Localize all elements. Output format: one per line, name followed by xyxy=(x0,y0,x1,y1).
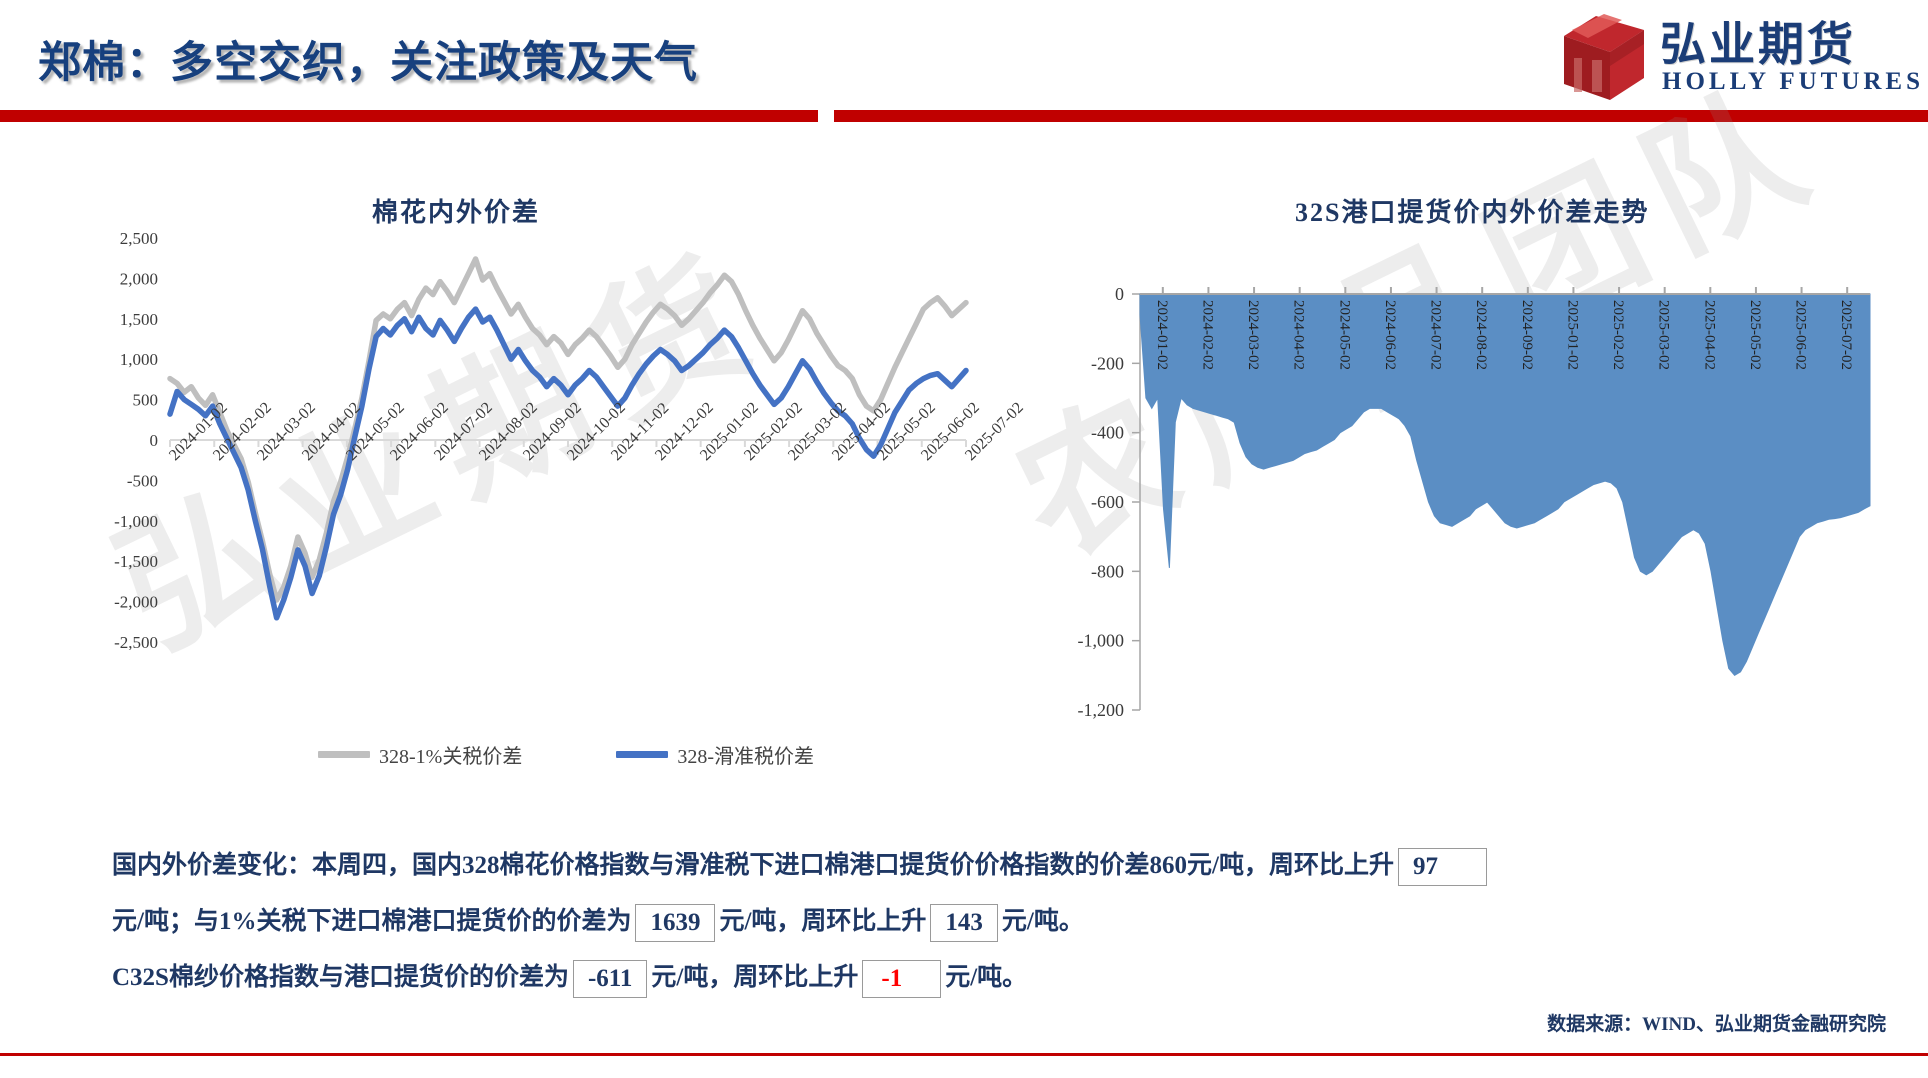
y-axis-tick-label: 0 xyxy=(150,431,159,450)
y-axis-tick-label: 1,500 xyxy=(120,310,158,329)
y-axis-tick-label: -1,000 xyxy=(114,512,158,531)
logo-chinese-name: 弘业期货 xyxy=(1660,8,1856,74)
analysis-line-2: 元/吨；与1%关税下进口棉港口提货价的价差为1639元/吨，周环比上升143元/… xyxy=(112,894,1852,950)
legend-swatch-icon xyxy=(616,751,668,758)
analysis-line-2-text-a: 元/吨；与1%关税下进口棉港口提货价的价差为 xyxy=(112,908,631,935)
y-axis-tick-label: 1,000 xyxy=(120,350,158,369)
chart-cotton-spread: 2,5002,0001,5001,0005000-500-1,000-1,500… xyxy=(80,230,980,650)
legend-item: 328-滑准税价差 xyxy=(616,740,814,769)
y-axis-tick-label: -500 xyxy=(127,471,158,490)
cube-logo-icon xyxy=(1552,8,1652,104)
y-axis-tick-label: 2,500 xyxy=(120,230,158,248)
chart-title-cotton-spread: 棉花内外价差 xyxy=(372,192,540,229)
analysis-line-1-text: 国内外价差变化：本周四，国内328棉花价格指数与滑准税下进口棉港口提货价价格指数… xyxy=(112,852,1394,879)
x-axis-tick-label: 2024-04-02 xyxy=(1292,300,1306,370)
x-axis-tick-label: 2025-03-02 xyxy=(1657,300,1671,370)
x-axis-tick-label: 2024-01-02 xyxy=(1155,300,1169,370)
slide-root: 郑棉：多空交织，关注政策及天气 弘业期货 HOLLY FUTURES 弘业期货 … xyxy=(0,0,1928,1078)
x-axis-tick-label: 2025-05-02 xyxy=(1748,300,1762,370)
x-axis-tick-label: 2025-06-02 xyxy=(1794,300,1808,370)
brand-logo: 弘业期货 HOLLY FUTURES xyxy=(1552,6,1898,106)
x-axis-tick-label: 2024-08-02 xyxy=(1474,300,1488,370)
x-axis-tick-label: 2024-03-02 xyxy=(1246,300,1260,370)
legend-item: 328-1%关税价差 xyxy=(318,740,522,769)
slide-header: 郑棉：多空交织，关注政策及天气 弘业期货 HOLLY FUTURES xyxy=(0,0,1928,122)
data-source-note: 数据来源：WIND、弘业期货金融研究院 xyxy=(1547,1009,1886,1036)
x-axis-tick-label: 2024-02-02 xyxy=(1200,300,1214,370)
y-axis-tick-label: -1,500 xyxy=(114,552,158,571)
value-box-weekly-change-3: -1 xyxy=(862,960,941,998)
x-axis-tick-label: 2024-05-02 xyxy=(1337,300,1351,370)
y-axis-tick-label: -2,000 xyxy=(114,593,158,612)
chart-legend-cotton-spread: 328-1%关税价差 328-滑准税价差 xyxy=(318,740,814,769)
y-axis-tick-label: 0 xyxy=(1115,284,1124,304)
x-axis-tick-label: 2025-04-02 xyxy=(1702,300,1716,370)
analysis-line-1: 国内外价差变化：本周四，国内328棉花价格指数与滑准税下进口棉港口提货价价格指数… xyxy=(112,838,1852,894)
y-axis-tick-label: -800 xyxy=(1091,561,1124,581)
legend-swatch-icon xyxy=(318,751,370,758)
page-title: 郑棉：多空交织，关注政策及天气 xyxy=(38,28,698,90)
analysis-line-2-text-b: 元/吨，周环比上升 xyxy=(719,908,926,935)
x-axis-tick-label: 2025-01-02 xyxy=(1565,300,1579,370)
y-axis-tick-label: -400 xyxy=(1091,423,1124,443)
x-axis-tick-label: 2025-07-02 xyxy=(1839,300,1853,370)
y-axis-tick-label: 2,000 xyxy=(120,269,158,288)
legend-label: 328-1%关税价差 xyxy=(379,740,522,769)
x-axis-tick-label: 2024-09-02 xyxy=(1520,300,1534,370)
analysis-line-3: C32S棉纱价格指数与港口提货价的价差为-611元/吨，周环比上升-1元/吨。 xyxy=(112,950,1852,1006)
x-axis-tick-label: 2024-06-02 xyxy=(1383,300,1397,370)
analysis-line-3-text-a: C32S棉纱价格指数与港口提货价的价差为 xyxy=(112,964,569,991)
analysis-line-3-text-c: 元/吨。 xyxy=(945,964,1027,991)
logo-english-name: HOLLY FUTURES xyxy=(1662,68,1924,96)
chart-title-32s-port-spread: 32S港口提货价内外价差走势 xyxy=(1295,192,1649,229)
value-box-c32s-spread: -611 xyxy=(573,960,647,998)
header-accent-bar-gap xyxy=(818,110,834,122)
x-axis-tick-label: 2024-07-02 xyxy=(1429,300,1443,370)
header-accent-bar xyxy=(0,110,1928,122)
value-box-weekly-change-2: 143 xyxy=(930,904,998,942)
value-box-tariff-spread: 1639 xyxy=(635,904,715,942)
legend-label: 328-滑准税价差 xyxy=(677,740,814,769)
y-axis-tick-label: -1,000 xyxy=(1078,631,1125,651)
analysis-line-2-text-c: 元/吨。 xyxy=(1002,908,1084,935)
analysis-line-3-text-b: 元/吨，周环比上升 xyxy=(651,964,858,991)
y-axis-tick-label: -600 xyxy=(1091,492,1124,512)
value-box-weekly-change-1: 97 xyxy=(1398,848,1487,886)
chart-32s-port-spread: 0-200-400-600-800-1,000-1,2002024-01-022… xyxy=(1020,280,1880,780)
y-axis-tick-label: -200 xyxy=(1091,353,1124,373)
footer-accent-bar xyxy=(0,1053,1928,1056)
y-axis-tick-label: -2,500 xyxy=(114,633,158,650)
y-axis-tick-label: 500 xyxy=(133,391,159,410)
x-axis-tick-label: 2025-02-02 xyxy=(1611,300,1625,370)
analysis-text: 国内外价差变化：本周四，国内328棉花价格指数与滑准税下进口棉港口提货价价格指数… xyxy=(112,838,1852,1006)
y-axis-tick-label: -1,200 xyxy=(1078,700,1125,720)
